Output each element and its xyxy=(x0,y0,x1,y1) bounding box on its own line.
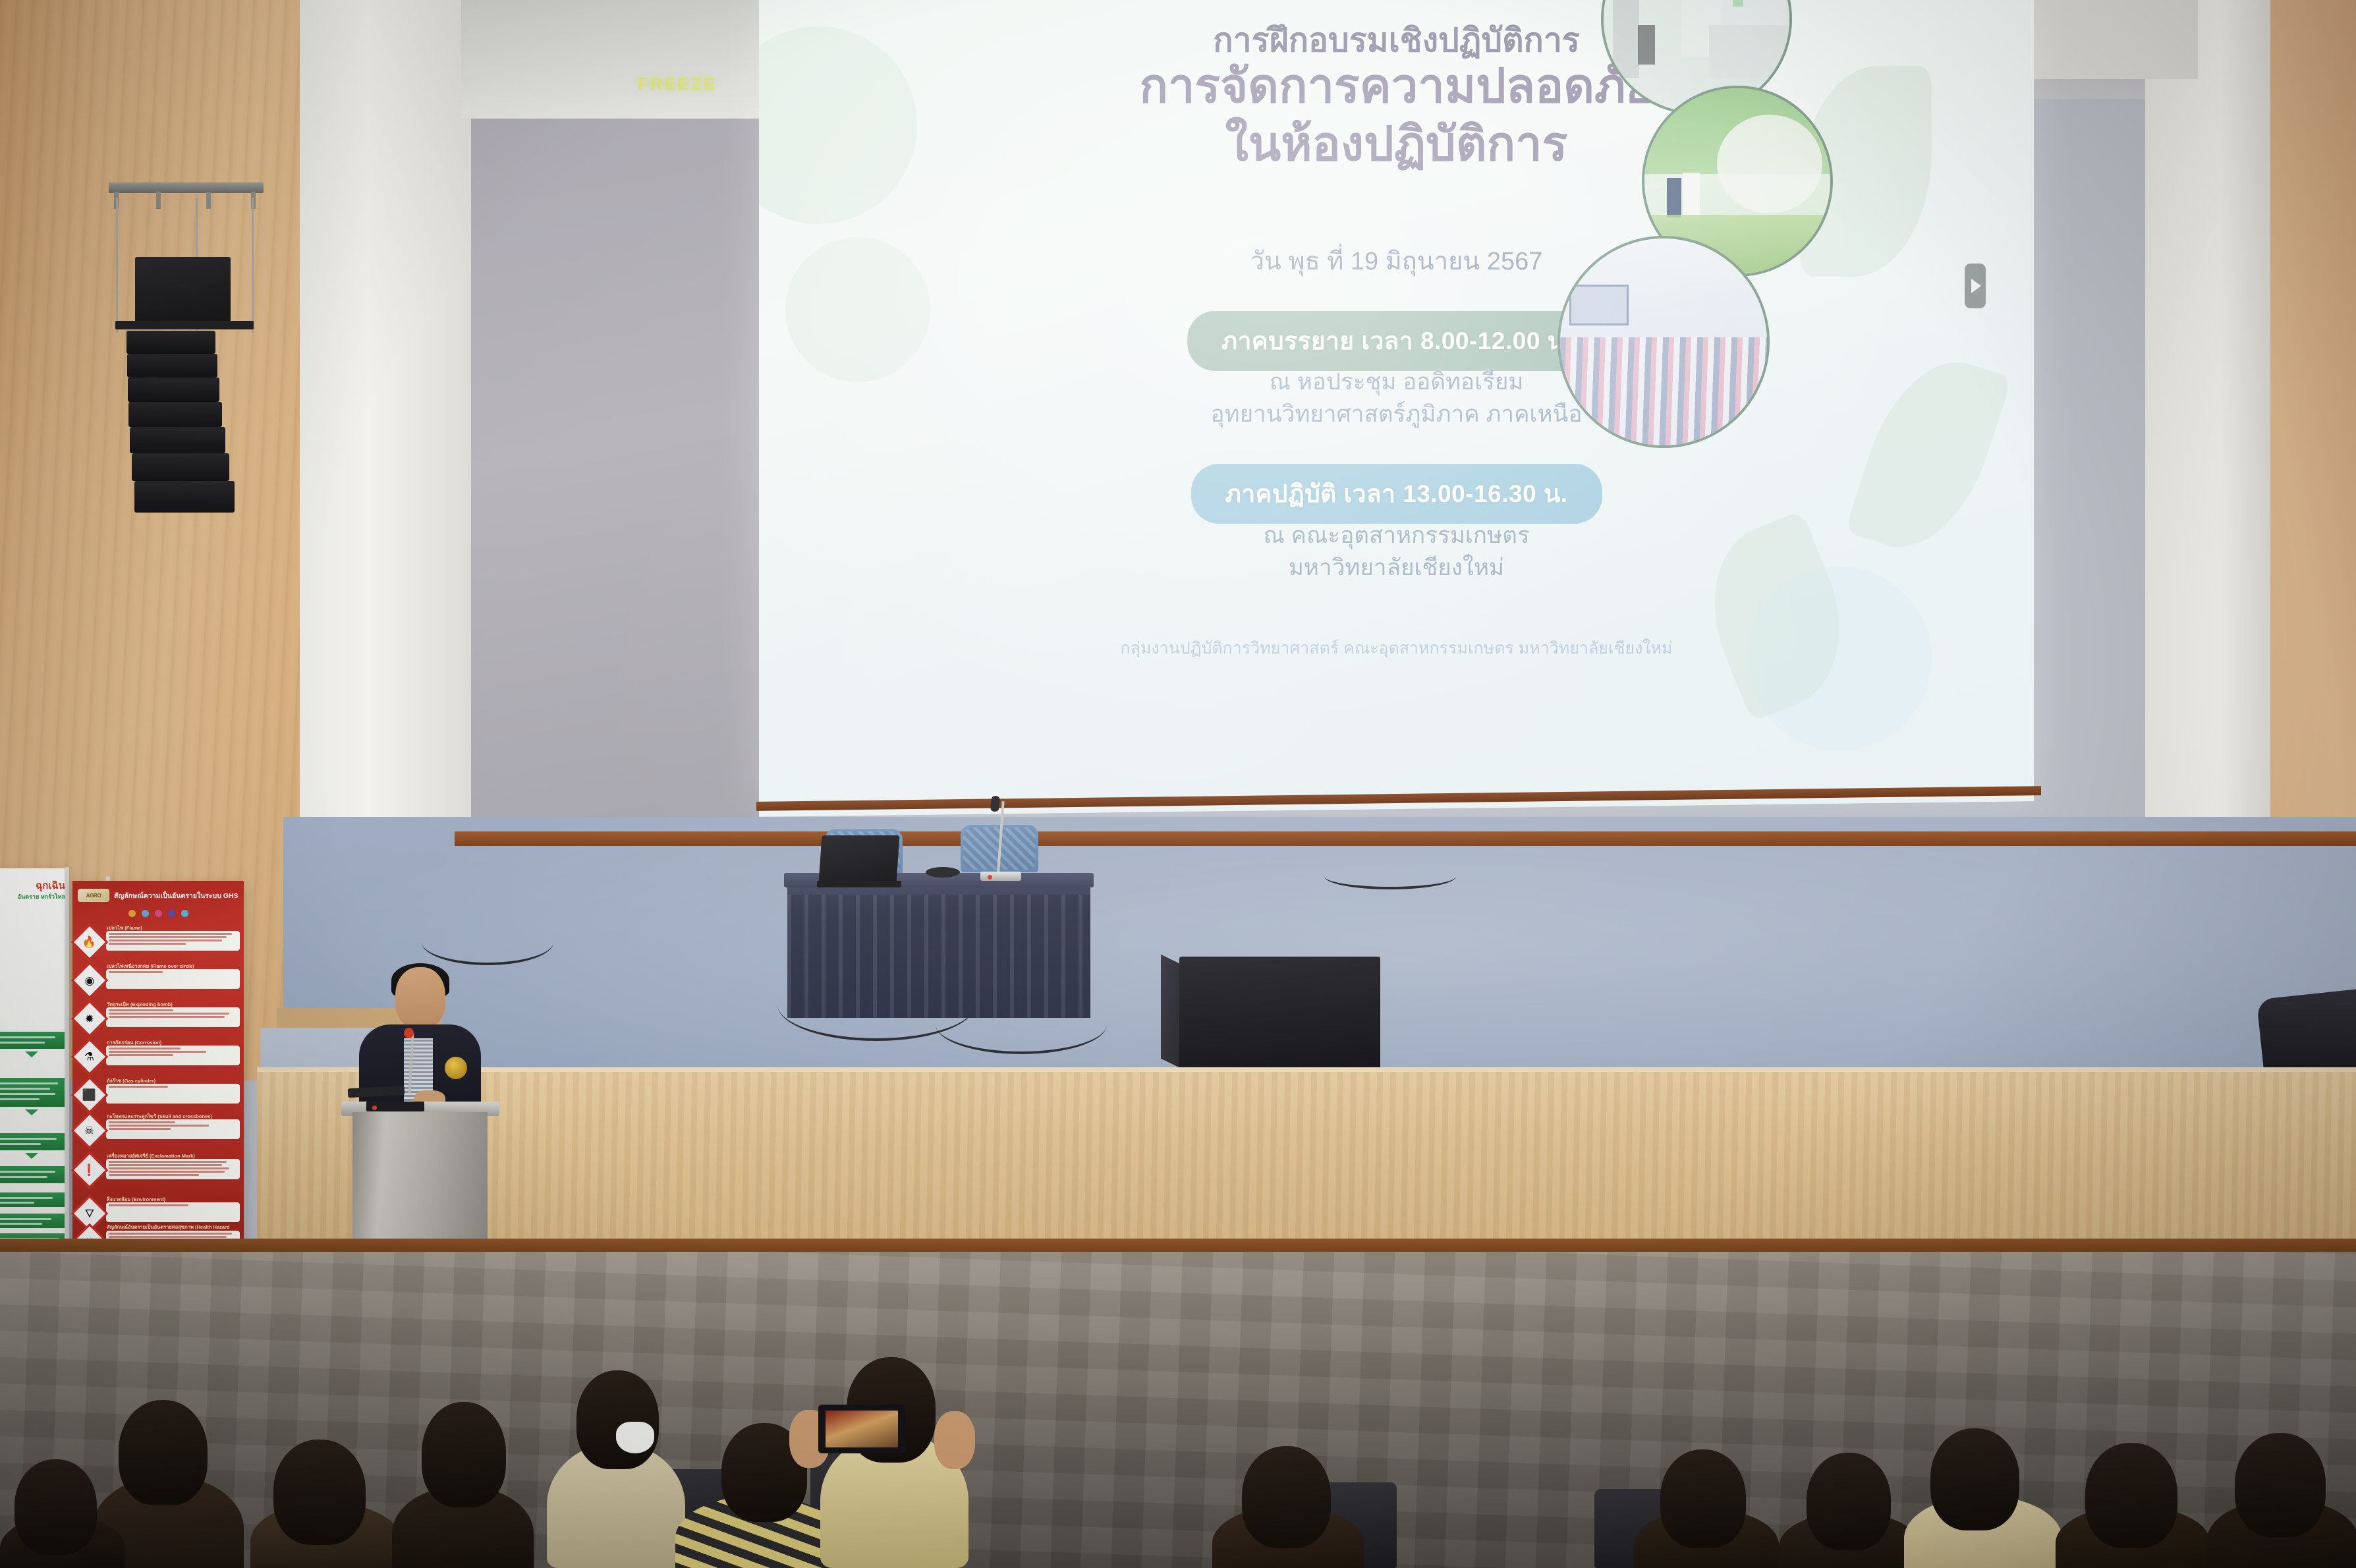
ghs-dot-4 xyxy=(168,910,175,917)
ghs-label-skull: กะโหลกและกระดูกไขว้ (Skull and crossbone… xyxy=(107,1113,212,1121)
ghs-dot-5 xyxy=(181,910,188,917)
emergency-spill-banner: ฉุกเฉิน อันตราย หกรั่วไหล xyxy=(0,868,69,1257)
session-venue-lecture: ณ หอประชุม ออดิทอเรียม อุทยานวิทยาศาสตร์… xyxy=(759,366,2034,430)
ghs-text-gas-cylinder xyxy=(106,1084,240,1104)
ghs-dot-row xyxy=(72,910,244,917)
line-array-module-1 xyxy=(126,331,215,354)
floor-cable-4 xyxy=(422,919,553,965)
spill-step-5 xyxy=(0,1192,66,1207)
flame-over-circle-icon: ◉ xyxy=(71,962,109,999)
line-array-module-2 xyxy=(127,354,217,378)
play-icon xyxy=(1971,279,1981,293)
slide-title: การจัดการความปลอดภัย ในห้องปฏิบัติการ xyxy=(759,58,2034,174)
auditorium-audience-photo xyxy=(1557,236,1770,448)
ghs-dot-3 xyxy=(155,910,162,917)
audience-photographer-hand-right xyxy=(934,1411,975,1469)
audience-head-11 xyxy=(2085,1443,2177,1548)
audience-head-2 xyxy=(273,1440,366,1545)
projection-screen: CMU CHIANG MAI UNIVERSITY การฝึกอบรมเชิง… xyxy=(759,0,2034,817)
audience-head-10 xyxy=(1930,1428,2019,1530)
line-array-module-3 xyxy=(128,378,219,402)
venue-lecture-line1: ณ หอประชุม ออดิทอเรียม xyxy=(759,366,2034,398)
stage-monitor-wedge xyxy=(1179,957,1380,1077)
cmu-logo: CMU CHIANG MAI UNIVERSITY xyxy=(1299,0,1494,6)
speaker-flybar-plate xyxy=(135,257,231,329)
ghs-item-flame: เปลวไฟ (Flame) 🔥 xyxy=(76,924,240,955)
projector-freeze-indicator: FREEZE xyxy=(638,74,717,94)
ghs-label-corrosion: การกัดกร่อน (Corrosion) xyxy=(107,1039,161,1047)
spill-arrow-2 xyxy=(25,1109,38,1115)
session-badge-lecture: ภาคบรรยาย เวลา 8.00-12.00 น. xyxy=(1187,311,1606,371)
audience-head-12 xyxy=(2235,1433,2326,1537)
slide-title-line1: การจัดการความปลอดภัย xyxy=(759,58,2034,116)
ghs-item-skull: กะโหลกและกระดูกไขว้ (Skull and crossbone… xyxy=(76,1113,240,1144)
ghs-text-flame xyxy=(106,931,240,951)
ghs-item-exclamation: เครื่องหมายอัศเจรีย์ (Exclamation Mark) … xyxy=(76,1152,240,1183)
cmu-logo-mark: CMU xyxy=(1299,0,1355,6)
ghs-text-exclamation xyxy=(106,1159,240,1179)
line-array-module-5 xyxy=(130,427,225,453)
ghs-item-corrosion: การกัดกร่อน (Corrosion) ⚗ xyxy=(76,1039,240,1070)
ghs-label-health-hazard: สัญลักษณ์อันตรายเป็นอันตรายต่อสุขภาพ (He… xyxy=(107,1223,240,1237)
audience-head-3 xyxy=(422,1402,506,1507)
exclamation-mark-icon: ❗ xyxy=(71,1152,109,1189)
left-grey-wall xyxy=(455,0,771,883)
cable-coil-on-table xyxy=(926,867,960,878)
ghs-item-gas-cylinder: ถังก๊าซ (Gas cylinder) ⬛ xyxy=(76,1077,240,1108)
line-array-module-7 xyxy=(134,481,235,513)
line-array-module-6 xyxy=(132,453,229,481)
banner-stand-left xyxy=(65,867,69,1262)
ghs-label-environment: สิ่งแวดล้อม (Environment) xyxy=(107,1196,165,1204)
spill-arrow-1 xyxy=(25,1051,38,1057)
gooseneck-mic-base xyxy=(980,872,1021,881)
stage-front-fascia xyxy=(257,1067,2356,1252)
gas-cylinder-icon: ⬛ xyxy=(71,1077,109,1114)
presenter-laptop xyxy=(818,835,899,883)
ghs-banner-title: สัญลักษณ์ความเป็นอันตรายในระบบ GHS xyxy=(114,890,238,901)
speaker-chain-right xyxy=(252,198,254,333)
slide-date: วัน พุธ ที่ 19 มิถุนายน 2567 xyxy=(759,240,2034,281)
ghs-label-gas-cylinder: ถังก๊าซ (Gas cylinder) xyxy=(107,1077,155,1085)
floor-cable-2 xyxy=(936,995,1107,1054)
audience-phone[interactable] xyxy=(818,1405,905,1453)
laptop-base xyxy=(817,881,901,887)
slide-footer: กลุ่มงานปฏิบัติการวิทยาศาสตร์ คณะอุตสาหก… xyxy=(759,635,2034,661)
audience-face-mask xyxy=(616,1422,654,1453)
mic-indicator-led xyxy=(988,875,992,880)
session-badge-practical: ภาคปฏิบัติ เวลา 13.00-16.30 น. xyxy=(1191,464,1602,524)
ghs-item-exploding-bomb: วัตถุระเบิด (Exploding bomb) ✹ xyxy=(76,1001,240,1032)
speaker-truss-bar xyxy=(109,182,264,193)
spill-step-1 xyxy=(0,1032,66,1049)
spill-banner-subtitle: อันตราย หกรั่วไหล xyxy=(0,892,69,901)
speaker-chain-left xyxy=(116,198,118,333)
venue-lecture-line2: อุทยานวิทยาศาสตร์ภูมิภาค ภาคเหนือ xyxy=(759,398,2034,430)
audience-head-7 xyxy=(1242,1446,1331,1548)
stage-baseboard xyxy=(455,831,2356,846)
ghs-dot-1 xyxy=(128,910,136,917)
white-column-left xyxy=(300,0,471,942)
presenter-head xyxy=(395,967,445,1029)
ghs-dot-2 xyxy=(142,910,149,917)
audience-head-9 xyxy=(1807,1453,1891,1550)
audience-head-13 xyxy=(14,1459,97,1555)
line-array-module-4 xyxy=(128,402,222,427)
spill-step-2 xyxy=(0,1078,66,1107)
audience-head-1 xyxy=(119,1400,208,1505)
venue-practical-line1: ณ คณะอุตสาหกรรมเกษตร xyxy=(759,519,2034,551)
ghs-hazard-banner: AGRO สัญลักษณ์ความเป็นอันตรายในระบบ GHS … xyxy=(72,881,244,1251)
podium-mic-capsule xyxy=(404,1028,414,1038)
ghs-label-exclamation: เครื่องหมายอัศเจรีย์ (Exclamation Mark) xyxy=(107,1152,195,1160)
ghs-label-flame-over-circle: เปลวไฟเหนือวงกลม (Flame over circle) xyxy=(107,963,194,970)
floor-cable-3 xyxy=(1324,863,1456,889)
speaker-mount-bar xyxy=(115,321,254,329)
ghs-banner-header: AGRO สัญลักษณ์ความเป็นอันตรายในระบบ GHS xyxy=(72,889,244,902)
agro-logo: AGRO xyxy=(78,889,109,902)
ghs-label-flame: เปลวไฟ (Flame) xyxy=(107,924,142,932)
ghs-text-skull xyxy=(106,1119,240,1139)
slide-title-line2: ในห้องปฏิบัติการ xyxy=(759,116,2034,174)
spill-arrow-3 xyxy=(25,1153,38,1159)
spill-banner-title: ฉุกเฉิน xyxy=(0,878,69,893)
presenter-emblem-badge xyxy=(445,1057,467,1079)
phone-screen-preview xyxy=(826,1411,899,1447)
video-play-button[interactable] xyxy=(1965,264,1986,308)
corrosion-icon: ⚗ xyxy=(71,1038,109,1076)
spill-step-3 xyxy=(0,1133,66,1150)
session-venue-practical: ณ คณะอุตสาหกรรมเกษตร มหาวิทยาลัยเชียงใหม… xyxy=(759,519,2034,584)
spill-step-6 xyxy=(0,1214,66,1228)
white-column-right xyxy=(2145,0,2270,942)
podium-indicator-led xyxy=(372,1106,377,1110)
ghs-text-corrosion xyxy=(106,1046,240,1065)
skull-and-crossbones-icon: ☠ xyxy=(71,1112,109,1150)
audience-head-4 xyxy=(576,1370,659,1469)
venue-practical-line2: มหาวิทยาลัยเชียงใหม่ xyxy=(759,551,2034,584)
flame-icon: 🔥 xyxy=(71,924,109,961)
auditorium-photo: CMU CHIANG MAI UNIVERSITY การฝึกอบรมเชิง… xyxy=(0,0,2356,1568)
ghs-item-flame-over-circle: เปลวไฟเหนือวงกลม (Flame over circle) ◉ xyxy=(76,963,240,994)
audience-head-8 xyxy=(1660,1449,1746,1548)
exploding-bomb-icon: ✹ xyxy=(71,1000,109,1038)
ghs-text-exploding-bomb xyxy=(106,1007,240,1027)
ghs-text-flame-over-circle xyxy=(106,969,240,989)
ghs-label-exploding-bomb: วัตถุระเบิด (Exploding bomb) xyxy=(107,1001,173,1009)
spill-step-4 xyxy=(0,1166,66,1183)
